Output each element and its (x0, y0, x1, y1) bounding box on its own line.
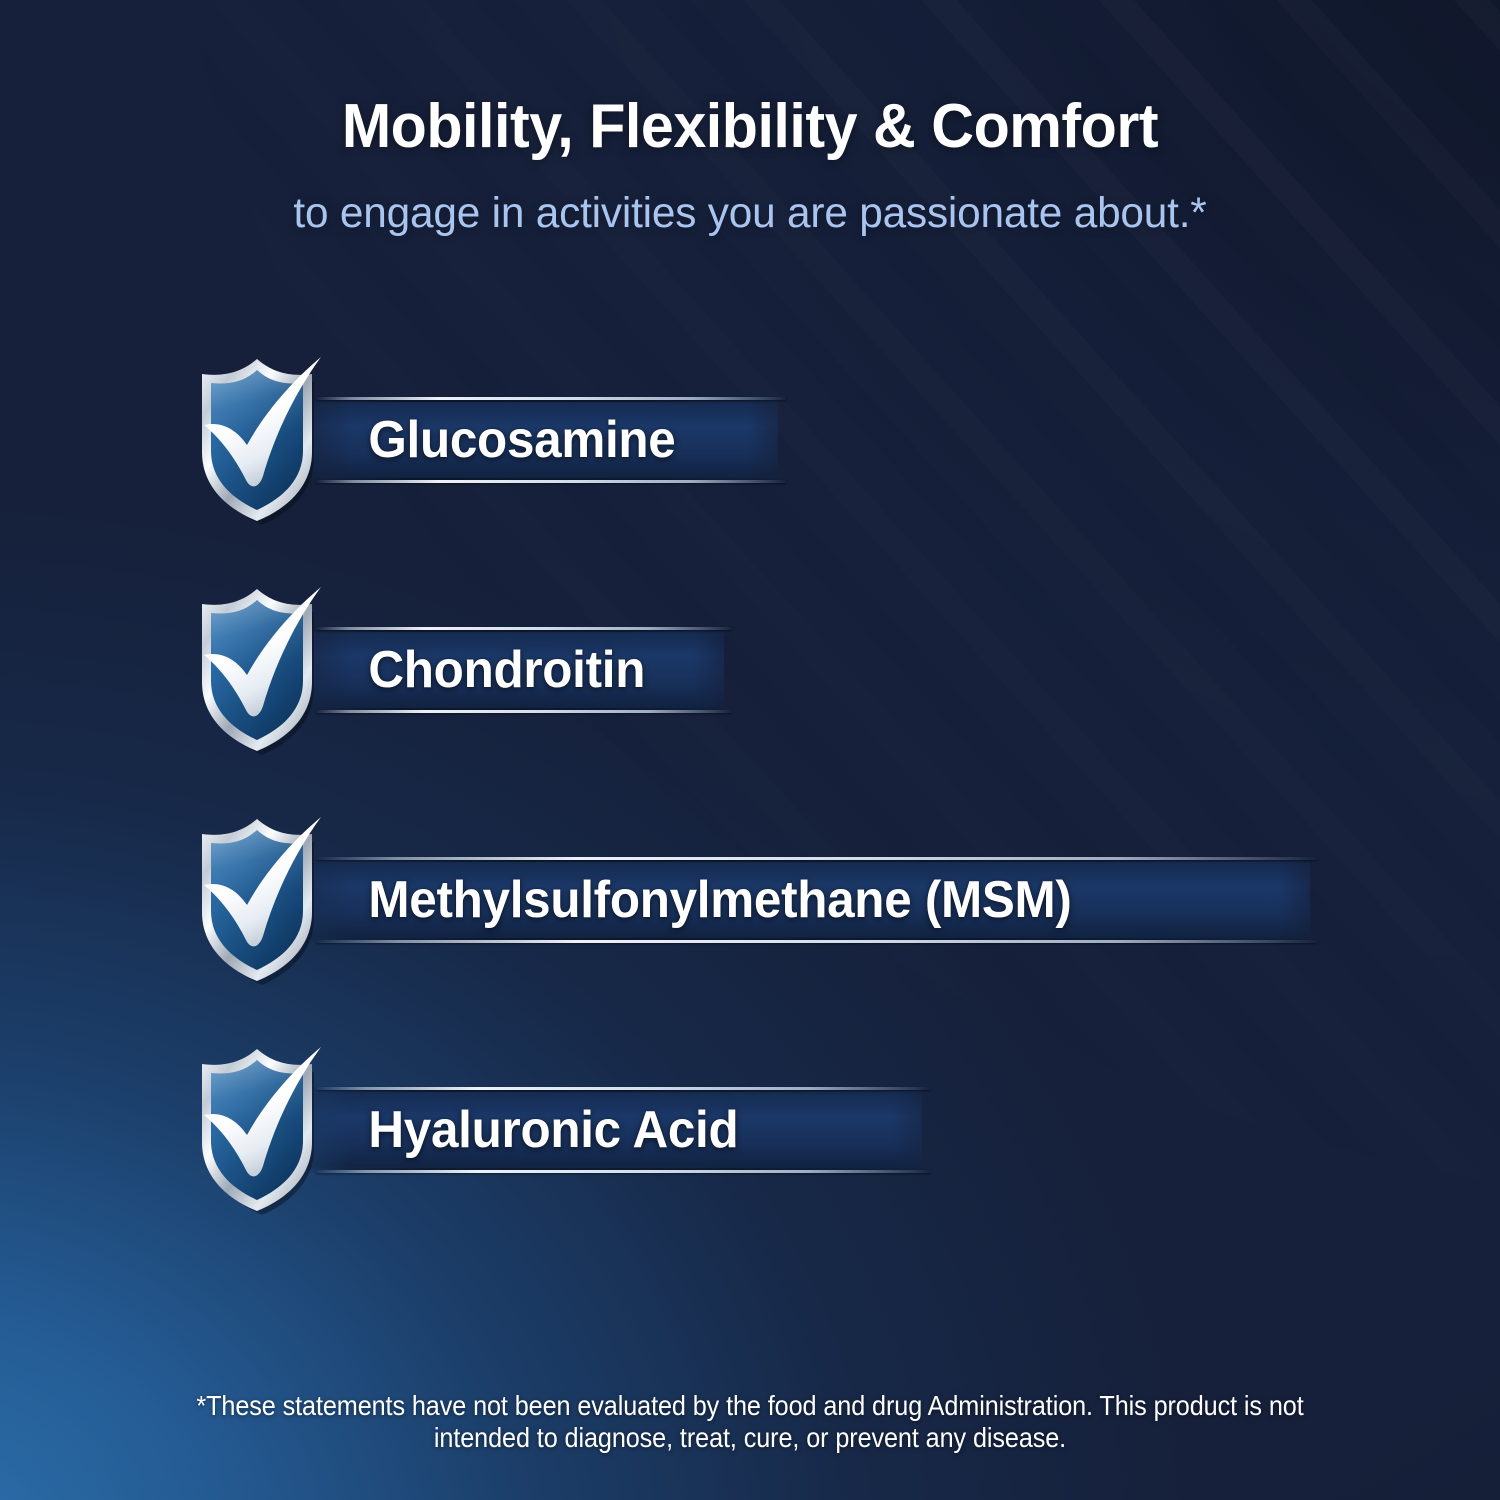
ingredient-row: Glucosamine (0, 355, 1500, 585)
shield-check-badge (188, 357, 340, 522)
shield-check-badge (188, 1047, 340, 1212)
plate-rule-top-shadow (316, 400, 786, 402)
ingredient-row: Chondroitin (0, 585, 1500, 815)
plate-rule-top-shadow (316, 630, 732, 632)
ingredient-plate: Methylsulfonylmethane (MSM) (262, 857, 1310, 943)
plate-rule-bottom (316, 940, 1318, 943)
infographic-canvas: Mobility, Flexibility & Comfort to engag… (0, 0, 1500, 1500)
ingredient-label: Methylsulfonylmethane (MSM) (262, 874, 1113, 926)
disclaimer-line-2: intended to diagnose, treat, cure, or pr… (120, 1422, 1380, 1454)
shield-check-badge (188, 587, 340, 752)
plate-rule-bottom-shadow (316, 708, 732, 710)
header: Mobility, Flexibility & Comfort to engag… (0, 96, 1500, 235)
page-subtitle: to engage in activities you are passiona… (11, 192, 1489, 235)
disclaimer: *These statements have not been evaluate… (120, 1390, 1380, 1454)
plate-rule-bottom-shadow (316, 938, 1318, 940)
plate-rule-bottom (316, 1170, 930, 1173)
plate-rule-bottom (316, 480, 786, 483)
ingredient-row: Hyaluronic Acid (0, 1045, 1500, 1275)
plate-rule-top-shadow (316, 860, 1318, 862)
shield-check-icon (188, 1047, 340, 1212)
shield-check-icon (188, 357, 340, 522)
shield-check-icon (188, 817, 340, 982)
ingredient-plate: Hyaluronic Acid (262, 1087, 922, 1173)
ingredient-row: Methylsulfonylmethane (MSM) (0, 815, 1500, 1045)
ingredient-list: Glucosamine (0, 355, 1500, 1275)
plate-rule-bottom-shadow (316, 1168, 930, 1170)
page-title: Mobility, Flexibility & Comfort (34, 96, 1467, 158)
plate-rule-bottom-shadow (316, 478, 786, 480)
disclaimer-line-1: *These statements have not been evaluate… (120, 1390, 1380, 1422)
plate-rule-top-shadow (316, 1090, 930, 1092)
shield-check-icon (188, 587, 340, 752)
plate-rule-bottom (316, 710, 732, 713)
shield-check-badge (188, 817, 340, 982)
